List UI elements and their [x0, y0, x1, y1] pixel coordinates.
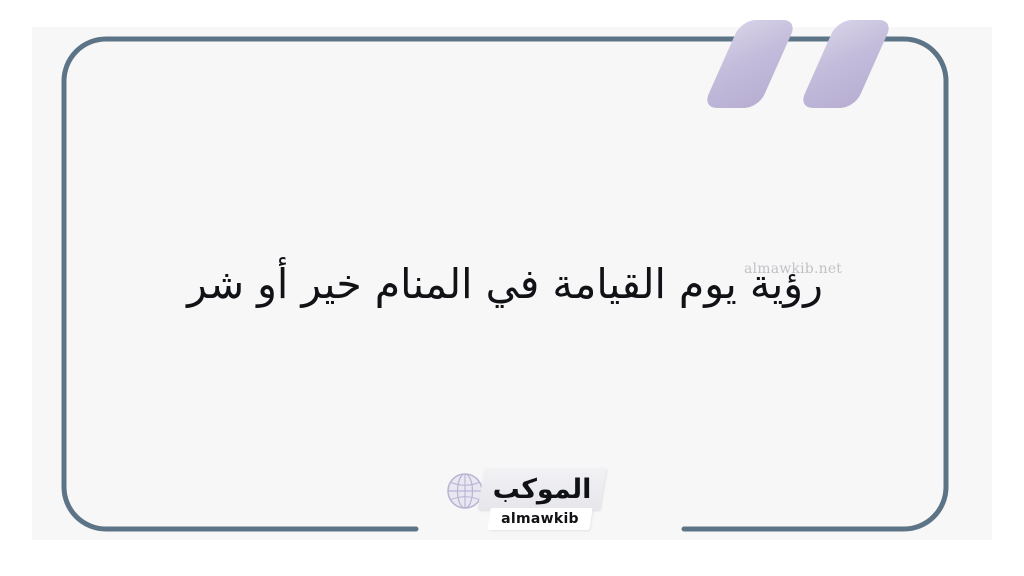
quote-bars-decoration	[700, 20, 930, 120]
card-stage: almawkib.net رؤية يوم القيامة في المنام …	[0, 0, 1024, 576]
logo-name-arabic: الموكب	[481, 468, 603, 510]
quote-bar-icon	[702, 20, 797, 108]
logo-name-latin: almawkib	[489, 508, 591, 530]
headline-container: رؤية يوم القيامة في المنام خير أو شر	[64, 215, 946, 355]
site-logo[interactable]: الموكب almawkib	[433, 466, 613, 534]
quote-bar-icon	[798, 20, 893, 108]
page-title: رؤية يوم القيامة في المنام خير أو شر	[187, 257, 823, 312]
